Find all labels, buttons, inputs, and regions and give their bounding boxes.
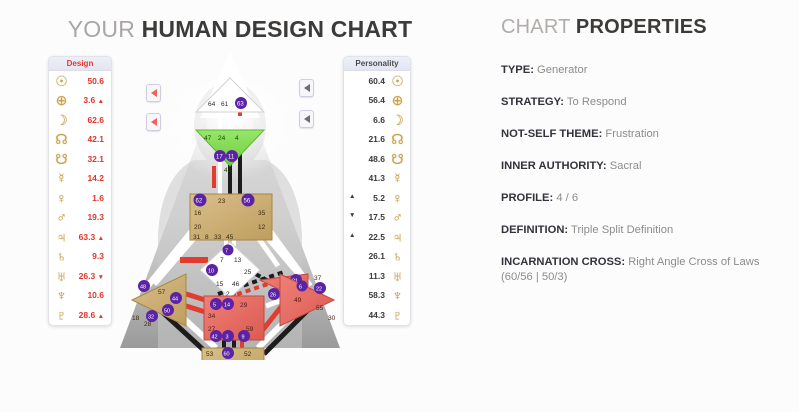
property-label: DEFINITION:	[501, 224, 568, 236]
personality-row-neptune[interactable]: 58.3♆	[344, 286, 410, 306]
exaltation-detriment-arrow-icon: ▲	[98, 235, 104, 242]
svg-text:37: 37	[314, 275, 322, 282]
svg-text:10: 10	[208, 269, 214, 275]
arrow-left-icon	[304, 84, 310, 92]
moon-glyph-icon: ☋	[389, 152, 406, 166]
personality-row-north-node[interactable]: 6.6☽	[344, 110, 410, 130]
arrow-left-icon	[151, 118, 157, 126]
svg-text:28: 28	[144, 321, 152, 328]
design-gate-number: 3.6	[83, 95, 95, 105]
svg-text:33: 33	[214, 234, 222, 241]
svg-text:4: 4	[235, 135, 239, 142]
design-gate-number: 14.2	[87, 173, 104, 183]
property-row: STRATEGY: To Respond	[501, 95, 777, 110]
design-gate-number: 42.1	[87, 134, 104, 144]
neptune-glyph-icon: ♆	[53, 288, 70, 302]
north-node-glyph-icon: ☽	[53, 113, 70, 127]
svg-text:3: 3	[226, 335, 229, 341]
neptune-glyph-icon: ♆	[389, 288, 406, 302]
venus-glyph-icon: ♀	[53, 191, 70, 205]
human-design-chart-page: YOUR HUMAN DESIGN CHART	[0, 0, 799, 412]
pluto-glyph-icon: ♇	[389, 308, 406, 322]
south-node-glyph-icon: ☊	[389, 132, 406, 146]
svg-text:62: 62	[196, 199, 203, 205]
design-gate-value: 26.3 ▼	[70, 271, 107, 281]
svg-text:6: 6	[299, 285, 302, 291]
property-value: To Respond	[564, 96, 627, 108]
design-gate-number: 28.6	[79, 310, 96, 320]
personality-gate-number: 44.3	[368, 310, 385, 320]
design-row-uranus[interactable]: ♅26.3 ▼	[49, 266, 111, 286]
design-gate-number: 62.6	[87, 115, 104, 125]
property-label: NOT-SELF THEME:	[501, 128, 602, 140]
svg-text:35: 35	[258, 210, 266, 217]
properties-list: TYPE: GeneratorSTRATEGY: To RespondNOT-S…	[501, 63, 777, 285]
sun-glyph-icon: ☉	[389, 74, 406, 88]
design-gate-value: 14.2	[70, 173, 107, 183]
arrow-left-icon	[304, 115, 310, 123]
design-column-heading: Design	[49, 57, 111, 71]
personality-gate-number: 41.3	[368, 173, 385, 183]
design-gate-value: 63.3 ▲	[70, 232, 107, 242]
svg-text:55: 55	[316, 305, 324, 312]
personality-row-sun[interactable]: 60.4☉	[344, 71, 410, 91]
design-row-saturn[interactable]: ♄9.3	[49, 247, 111, 267]
exaltation-detriment-arrow-icon: ▼	[98, 274, 104, 281]
personality-row-mercury[interactable]: 41.3☿	[344, 169, 410, 189]
north-node-glyph-icon: ☽	[389, 113, 406, 127]
chart-pane: YOUR HUMAN DESIGN CHART	[0, 0, 480, 412]
page-title-bold: HUMAN DESIGN CHART	[142, 16, 413, 42]
personality-gate-value: 11.3	[348, 271, 389, 281]
svg-text:50: 50	[164, 309, 170, 315]
design-gate-value: 50.6	[70, 76, 107, 86]
svg-text:42: 42	[212, 335, 218, 341]
exaltation-detriment-arrow-icon: ▲	[98, 98, 104, 105]
design-gate-value: 28.6 ▲	[70, 310, 107, 320]
personality-gate-number: 17.5	[368, 212, 385, 222]
personality-column-heading: Personality	[344, 57, 410, 71]
personality-gate-number: 56.4	[368, 95, 385, 105]
pluto-glyph-icon: ♇	[53, 308, 70, 322]
svg-text:32: 32	[148, 315, 154, 321]
earth-glyph-icon: ⊕	[389, 93, 406, 107]
arrow-left-icon	[151, 89, 157, 97]
design-row-mars[interactable]: ♂19.3	[49, 208, 111, 228]
exaltation-detriment-arrow-icon: ▲	[348, 193, 355, 200]
personality-gate-value: 44.3	[348, 310, 389, 320]
personality-gate-number: 22.5	[368, 232, 385, 242]
property-value: Generator	[534, 64, 587, 76]
svg-text:34: 34	[208, 313, 216, 320]
properties-title-bold: PROPERTIES	[576, 16, 707, 38]
design-row-mercury[interactable]: ☿14.2	[49, 169, 111, 189]
personality-gate-value: 56.4	[348, 95, 389, 105]
svg-text:49: 49	[294, 297, 302, 304]
properties-title: CHART PROPERTIES	[501, 16, 777, 39]
personality-row-moon[interactable]: 48.6☋	[344, 149, 410, 169]
personality-row-pluto[interactable]: 44.3♇	[344, 305, 410, 325]
design-gate-value: 1.6	[70, 193, 107, 203]
svg-text:15: 15	[216, 281, 224, 288]
personality-row-earth[interactable]: 56.4⊕	[344, 91, 410, 111]
personality-gate-value: 26.1	[348, 251, 389, 261]
exaltation-detriment-arrow-icon: ▲	[98, 313, 104, 320]
svg-text:57: 57	[158, 289, 166, 296]
south-node-glyph-icon: ☊	[53, 132, 70, 146]
design-gate-number: 50.6	[87, 76, 104, 86]
personality-row-mars[interactable]: ▼ 17.5♂	[344, 208, 410, 228]
design-row-neptune[interactable]: ♆10.6	[49, 286, 111, 306]
design-row-sun[interactable]: ☉50.6	[49, 71, 111, 91]
property-row: TYPE: Generator	[501, 63, 777, 78]
personality-left-arrow-button[interactable]	[299, 79, 314, 97]
personality-gate-number: 48.6	[368, 154, 385, 164]
saturn-glyph-icon: ♄	[53, 249, 70, 263]
design-row-earth[interactable]: ⊕3.6 ▲	[49, 91, 111, 111]
design-gate-number: 1.6	[92, 193, 104, 203]
design-gate-value: 42.1	[70, 134, 107, 144]
design-row-jupiter[interactable]: ♃63.3 ▲	[49, 227, 111, 247]
design-gate-number: 19.3	[87, 212, 104, 222]
svg-text:20: 20	[194, 224, 202, 231]
svg-text:56: 56	[244, 199, 251, 205]
moon-glyph-icon: ☋	[53, 152, 70, 166]
svg-text:61: 61	[221, 101, 229, 108]
svg-text:13: 13	[234, 257, 242, 264]
property-value: 4 / 6	[553, 192, 578, 204]
personality-gate-value: 48.6	[348, 154, 389, 164]
personality-gate-number: 11.3	[369, 271, 385, 281]
personality-gate-value: 41.3	[348, 173, 389, 183]
design-gate-value: 19.3	[70, 212, 107, 222]
design-left-arrow-button[interactable]	[146, 84, 161, 102]
svg-text:8: 8	[205, 234, 209, 241]
svg-text:26: 26	[270, 293, 276, 299]
design-gate-value: 9.3	[70, 251, 107, 261]
svg-text:24: 24	[218, 135, 226, 142]
svg-text:48: 48	[140, 285, 146, 291]
svg-text:18: 18	[132, 315, 140, 322]
svg-text:22: 22	[316, 287, 322, 293]
svg-text:44: 44	[172, 297, 178, 303]
design-gate-number: 63.3	[79, 232, 96, 242]
property-value: Triple Split Definition	[568, 224, 673, 236]
personality-gate-number: 26.1	[368, 251, 385, 261]
saturn-glyph-icon: ♄	[389, 249, 406, 263]
center-root: 53 60 52	[202, 347, 264, 360]
design-gate-value: 32.1	[70, 154, 107, 164]
personality-gate-number: 58.3	[368, 290, 385, 300]
svg-text:43: 43	[224, 167, 232, 174]
mercury-glyph-icon: ☿	[53, 171, 70, 185]
personality-planet-column[interactable]: Personality 60.4☉56.4⊕6.6☽21.6☊48.6☋41.3…	[343, 56, 411, 326]
personality-gate-number: 21.6	[368, 134, 385, 144]
property-label: INNER AUTHORITY:	[501, 160, 607, 172]
personality-row-saturn[interactable]: 26.1♄	[344, 247, 410, 267]
property-row: INNER AUTHORITY: Sacral	[501, 159, 777, 174]
personality-rows: 60.4☉56.4⊕6.6☽21.6☊48.6☋41.3☿▲ 5.2♀▼ 17.…	[344, 71, 410, 325]
svg-text:64: 64	[208, 101, 216, 108]
personality-gate-value: ▲ 5.2	[348, 193, 389, 203]
personality-gate-value: 60.4	[348, 76, 389, 86]
design-right-arrow-button[interactable]	[146, 113, 161, 131]
personality-gate-value: 58.3	[348, 290, 389, 300]
personality-gate-number: 5.2	[373, 193, 385, 203]
personality-gate-value: 21.6	[348, 134, 389, 144]
design-gate-value: 62.6	[70, 115, 107, 125]
personality-gate-number: 6.6	[373, 115, 385, 125]
svg-text:11: 11	[228, 155, 235, 161]
chart-properties-pane: CHART PROPERTIES TYPE: GeneratorSTRATEGY…	[480, 0, 799, 412]
property-value: Frustration	[602, 128, 659, 140]
personality-row-jupiter[interactable]: ▲ 22.5♃	[344, 227, 410, 247]
svg-text:7: 7	[225, 249, 228, 255]
jupiter-glyph-icon: ♃	[389, 230, 406, 244]
svg-text:63: 63	[237, 102, 244, 108]
page-title-light: YOUR	[68, 16, 142, 42]
svg-text:30: 30	[328, 315, 336, 322]
design-gate-value: 3.6 ▲	[70, 95, 107, 105]
design-row-venus[interactable]: ♀1.6	[49, 188, 111, 208]
svg-text:53: 53	[206, 351, 214, 358]
design-planet-column[interactable]: Design ☉50.6⊕3.6 ▲☽62.6☊42.1☋32.1☿14.2♀1…	[48, 56, 112, 326]
svg-text:47: 47	[204, 135, 212, 142]
svg-text:12: 12	[258, 224, 266, 231]
svg-text:60: 60	[224, 352, 230, 358]
svg-text:9: 9	[242, 335, 245, 341]
svg-text:45: 45	[226, 234, 234, 241]
personality-gate-number: 60.4	[368, 76, 385, 86]
svg-text:7: 7	[220, 257, 224, 264]
uranus-glyph-icon: ♅	[53, 269, 70, 283]
svg-text:14: 14	[224, 303, 230, 309]
exaltation-detriment-arrow-icon: ▲	[348, 232, 355, 239]
page-title: YOUR HUMAN DESIGN CHART	[0, 16, 480, 43]
svg-text:23: 23	[218, 198, 226, 205]
property-label: INCARNATION CROSS:	[501, 256, 625, 268]
property-label: STRATEGY:	[501, 96, 564, 108]
svg-text:17: 17	[216, 155, 223, 161]
center-sacral: 5 14 29 34 27 59 42 3 9	[204, 296, 264, 342]
property-row: DEFINITION: Triple Split Definition	[501, 223, 777, 238]
svg-text:5: 5	[213, 303, 216, 309]
sun-glyph-icon: ☉	[53, 74, 70, 88]
design-row-pluto[interactable]: ♇28.6 ▲	[49, 305, 111, 325]
mars-glyph-icon: ♂	[53, 210, 70, 224]
bodygraph[interactable]: 64 61 63 47 24 4 17 11 43	[108, 48, 353, 360]
design-gate-number: 9.3	[92, 251, 104, 261]
svg-text:25: 25	[244, 269, 252, 276]
design-gate-number: 26.3	[79, 271, 96, 281]
property-label: TYPE:	[501, 64, 534, 76]
center-throat: 62 23 56 16 35 20 12 31 8 33 45	[190, 194, 272, 242]
mercury-glyph-icon: ☿	[389, 171, 406, 185]
mars-glyph-icon: ♂	[389, 210, 406, 224]
personality-gate-value: 6.6	[348, 115, 389, 125]
property-label: PROFILE:	[501, 192, 553, 204]
personality-row-uranus[interactable]: 11.3♅	[344, 266, 410, 286]
properties-title-light: CHART	[501, 16, 576, 38]
design-row-south-node[interactable]: ☊42.1	[49, 130, 111, 150]
exaltation-detriment-arrow-icon: ▼	[348, 212, 355, 219]
earth-glyph-icon: ⊕	[53, 93, 70, 107]
svg-text:46: 46	[232, 281, 240, 288]
personality-gate-value: ▼ 17.5	[348, 212, 389, 222]
svg-text:16: 16	[194, 210, 202, 217]
design-gate-number: 32.1	[87, 154, 104, 164]
personality-right-arrow-button[interactable]	[299, 110, 314, 128]
jupiter-glyph-icon: ♃	[53, 230, 70, 244]
property-value: Sacral	[607, 160, 642, 172]
property-row: NOT-SELF THEME: Frustration	[501, 127, 777, 142]
design-row-moon[interactable]: ☋32.1	[49, 149, 111, 169]
svg-text:29: 29	[240, 302, 248, 309]
svg-text:31: 31	[193, 234, 201, 241]
personality-gate-value: ▲ 22.5	[348, 232, 389, 242]
svg-text:52: 52	[244, 351, 252, 358]
design-gate-number: 10.6	[87, 290, 104, 300]
personality-row-south-node[interactable]: 21.6☊	[344, 130, 410, 150]
design-gate-value: 10.6	[70, 290, 107, 300]
design-row-north-node[interactable]: ☽62.6	[49, 110, 111, 130]
venus-glyph-icon: ♀	[389, 191, 406, 205]
property-row: PROFILE: 4 / 6	[501, 191, 777, 206]
property-row: INCARNATION CROSS: Right Angle Cross of …	[501, 255, 777, 285]
personality-row-venus[interactable]: ▲ 5.2♀	[344, 188, 410, 208]
uranus-glyph-icon: ♅	[389, 269, 406, 283]
design-rows: ☉50.6⊕3.6 ▲☽62.6☊42.1☋32.1☿14.2♀1.6♂19.3…	[49, 71, 111, 325]
